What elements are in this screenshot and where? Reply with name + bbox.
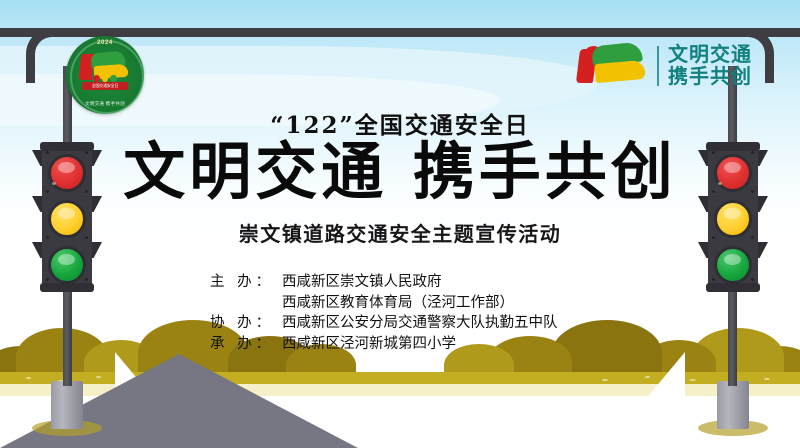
credit-value: 西咸新区泾河新城第四小学 <box>282 334 630 355</box>
credit-label: 承 办： <box>210 334 282 355</box>
poster-subheadline: 崇文镇道路交通安全主题宣传活动 <box>0 218 800 247</box>
credits-block: 主 办：西咸新区崇文镇人民政府西咸新区教育体育局（泾河工作部）协 办：西咸新区公… <box>210 272 630 355</box>
poster-text-block: “122”全国交通安全日 文明交通 携手共创 崇文镇道路交通安全主题宣传活动 主… <box>0 0 800 448</box>
credit-value: 西咸新区教育体育局（泾河工作部） <box>282 293 630 314</box>
credit-value: 西咸新区公安分局交通警察大队执勤五中队 <box>282 313 630 334</box>
poster-canvas: 2024 全国交通安全日 文明交通 携手共创 文明交通 携手共创 “12 <box>0 0 800 448</box>
credit-label: 协 办： <box>210 313 282 334</box>
credit-row: 主 办：西咸新区崇文镇人民政府西咸新区教育体育局（泾河工作部） <box>210 272 630 313</box>
credit-value: 西咸新区崇文镇人民政府 <box>282 272 630 293</box>
credit-values: 西咸新区崇文镇人民政府西咸新区教育体育局（泾河工作部） <box>282 272 630 313</box>
credit-row: 承 办：西咸新区泾河新城第四小学 <box>210 334 630 355</box>
credit-row: 协 办：西咸新区公安分局交通警察大队执勤五中队 <box>210 313 630 334</box>
credit-values: 西咸新区公安分局交通警察大队执勤五中队 <box>282 313 630 334</box>
credit-label: 主 办： <box>210 272 282 293</box>
credit-values: 西咸新区泾河新城第四小学 <box>282 334 630 355</box>
poster-headline: 文明交通 携手共创 <box>0 139 800 204</box>
